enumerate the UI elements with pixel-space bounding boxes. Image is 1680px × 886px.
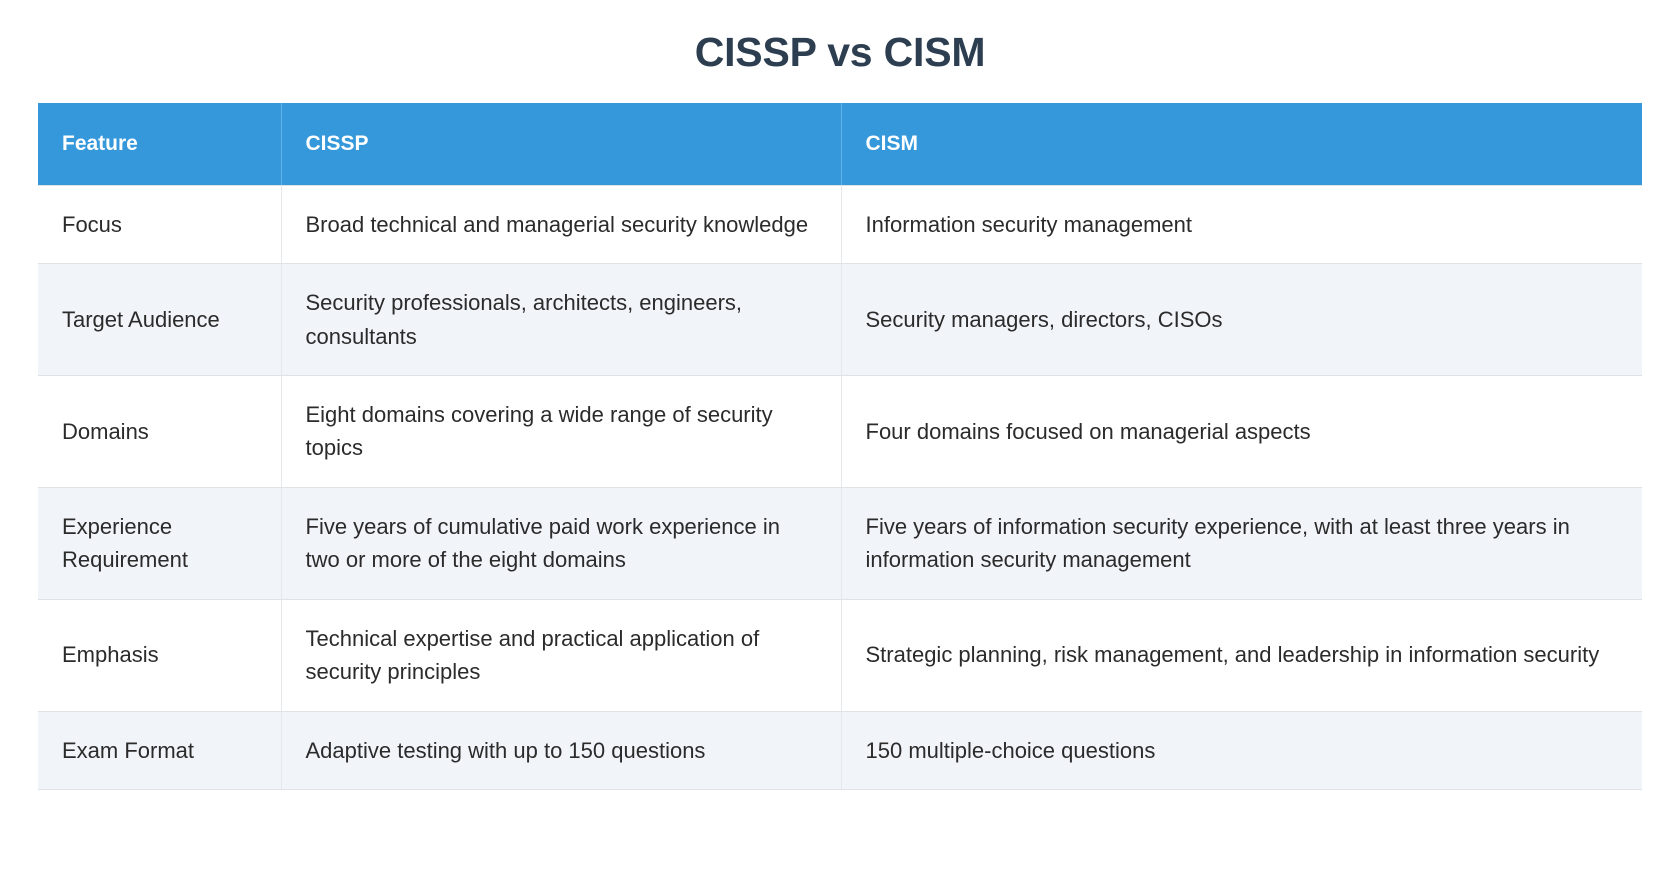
table-header-row: Feature CISSP CISM: [38, 103, 1642, 185]
cell-cism: Strategic planning, risk management, and…: [841, 599, 1642, 711]
table-row: Domains Eight domains covering a wide ra…: [38, 376, 1642, 488]
cissp-vs-cism-table: Feature CISSP CISM Focus Broad technical…: [38, 103, 1642, 790]
cell-cissp: Eight domains covering a wide range of s…: [281, 376, 841, 488]
cell-cism: 150 multiple-choice questions: [841, 711, 1642, 789]
comparison-table-container: Feature CISSP CISM Focus Broad technical…: [38, 103, 1642, 790]
cell-cism: Four domains focused on managerial aspec…: [841, 376, 1642, 488]
cell-cissp: Adaptive testing with up to 150 question…: [281, 711, 841, 789]
column-header-cism: CISM: [841, 103, 1642, 185]
column-header-cissp: CISSP: [281, 103, 841, 185]
cell-feature: Target Audience: [38, 264, 281, 376]
cell-cism: Security managers, directors, CISOs: [841, 264, 1642, 376]
table-body: Focus Broad technical and managerial sec…: [38, 185, 1642, 789]
table-row: Target Audience Security professionals, …: [38, 264, 1642, 376]
table-header: Feature CISSP CISM: [38, 103, 1642, 185]
cell-cism: Five years of information security exper…: [841, 487, 1642, 599]
table-row: Focus Broad technical and managerial sec…: [38, 185, 1642, 263]
cell-feature: Domains: [38, 376, 281, 488]
cell-cism: Information security management: [841, 185, 1642, 263]
cell-cissp: Five years of cumulative paid work exper…: [281, 487, 841, 599]
table-row: Exam Format Adaptive testing with up to …: [38, 711, 1642, 789]
cell-feature: Exam Format: [38, 711, 281, 789]
cell-cissp: Broad technical and managerial security …: [281, 185, 841, 263]
comparison-page: CISSP vs CISM Feature CISSP CISM Focus B…: [0, 0, 1680, 886]
cell-feature: Focus: [38, 185, 281, 263]
page-title: CISSP vs CISM: [0, 0, 1680, 103]
column-header-feature: Feature: [38, 103, 281, 185]
table-row: Emphasis Technical expertise and practic…: [38, 599, 1642, 711]
cell-cissp: Technical expertise and practical applic…: [281, 599, 841, 711]
cell-feature: Emphasis: [38, 599, 281, 711]
cell-feature: Experience Requirement: [38, 487, 281, 599]
table-row: Experience Requirement Five years of cum…: [38, 487, 1642, 599]
cell-cissp: Security professionals, architects, engi…: [281, 264, 841, 376]
